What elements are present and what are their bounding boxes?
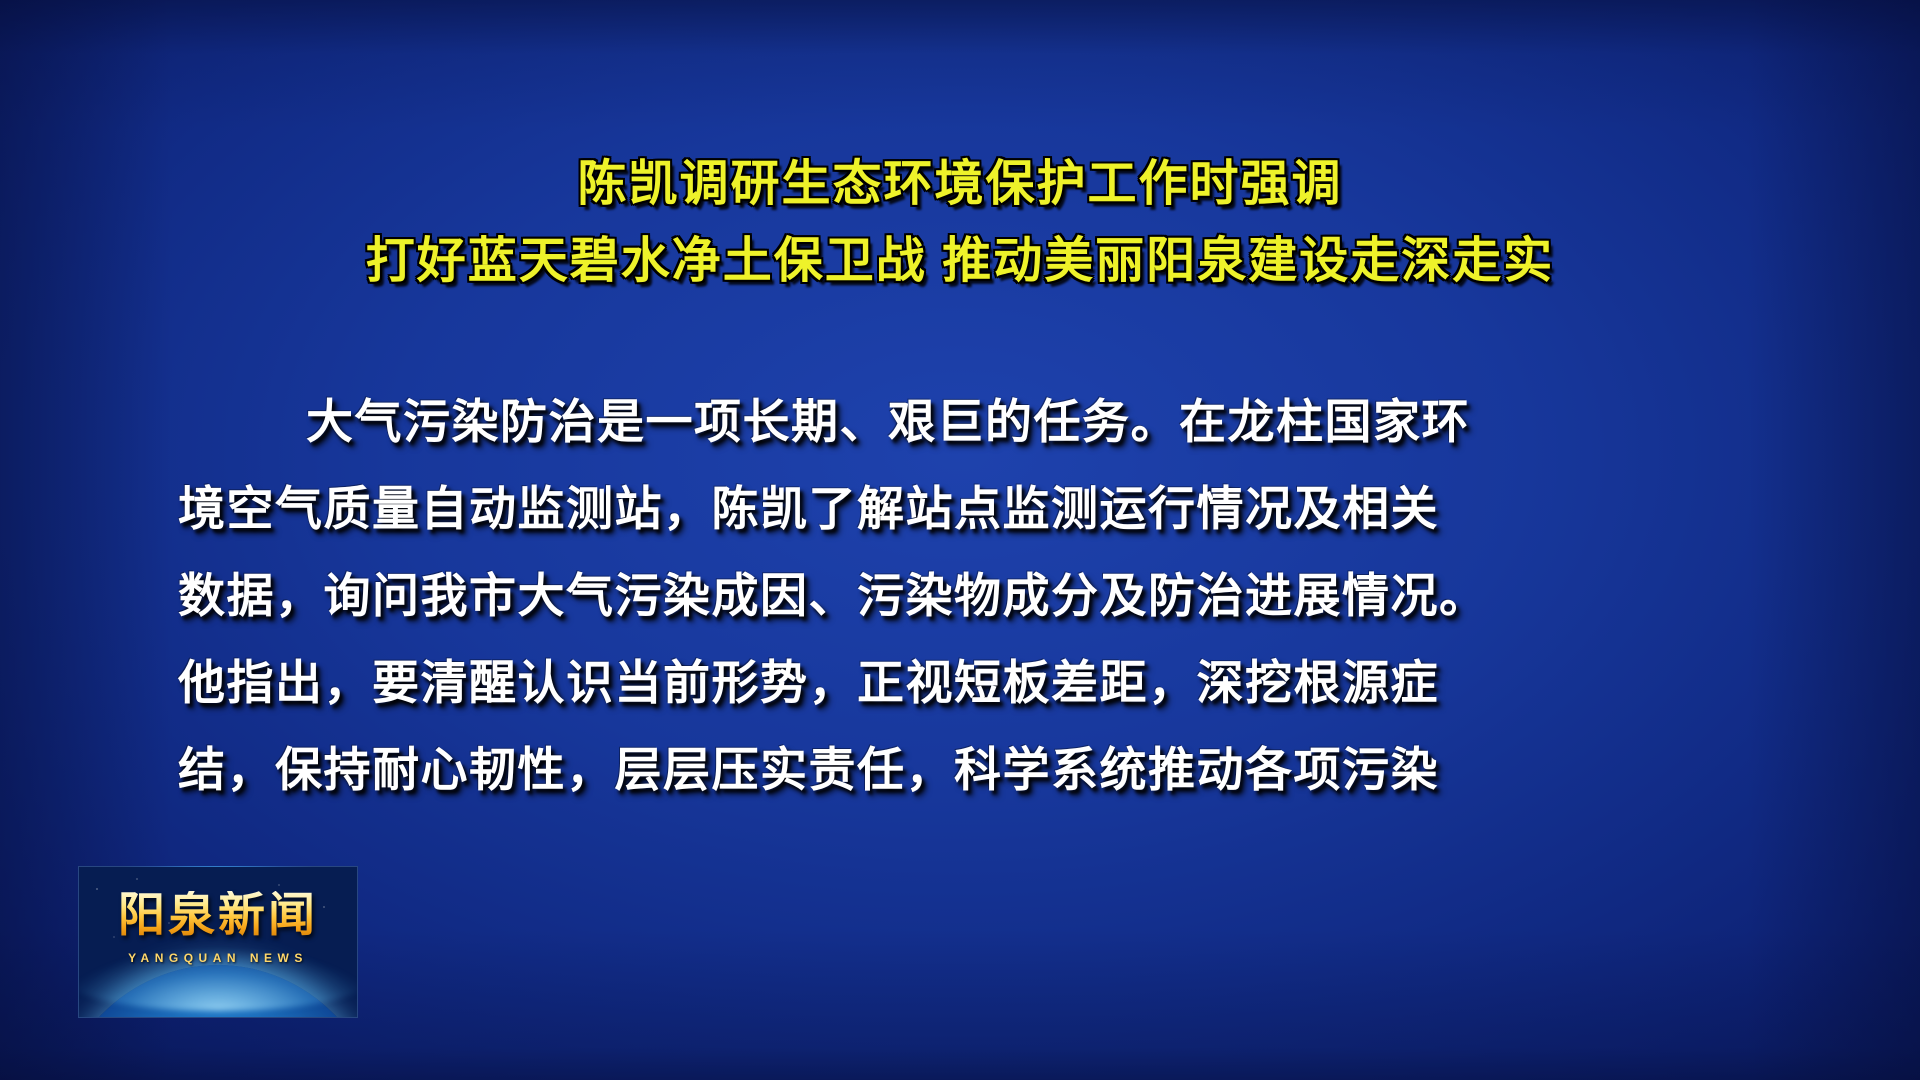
headline-line-1: 陈凯调研生态环境保护工作时强调 [0, 152, 1920, 217]
broadcast-screen: 陈凯调研生态环境保护工作时强调 打好蓝天碧水净土保卫战 推动美丽阳泉建设走深走实… [0, 0, 1920, 1080]
body-line-1: 大气污染防治是一项长期、艰巨的任务。在龙柱国家环 [178, 398, 1766, 485]
news-body-text: 大气污染防治是一项长期、艰巨的任务。在龙柱国家环 境空气质量自动监测站，陈凯了解… [178, 398, 1766, 833]
channel-logo: 阳泉新闻 YANGQUAN NEWS [78, 866, 358, 1018]
news-headline: 陈凯调研生态环境保护工作时强调 打好蓝天碧水净土保卫战 推动美丽阳泉建设走深走实 [0, 152, 1920, 293]
channel-logo-name-cn: 阳泉新闻 [79, 891, 357, 938]
body-line-2: 境空气质量自动监测站，陈凯了解站点监测运行情况及相关 [178, 485, 1766, 572]
body-line-5: 结，保持耐心韧性，层层压实责任，科学系统推动各项污染 [178, 746, 1766, 833]
body-line-4: 他指出，要清醒认识当前形势，正视短板差距，深挖根源症 [178, 659, 1766, 746]
headline-line-2: 打好蓝天碧水净土保卫战 推动美丽阳泉建设走深走实 [0, 229, 1920, 294]
channel-logo-name-en: YANGQUAN NEWS [79, 951, 357, 965]
body-line-3: 数据，询问我市大气污染成因、污染物成分及防治进展情况。 [178, 572, 1766, 659]
